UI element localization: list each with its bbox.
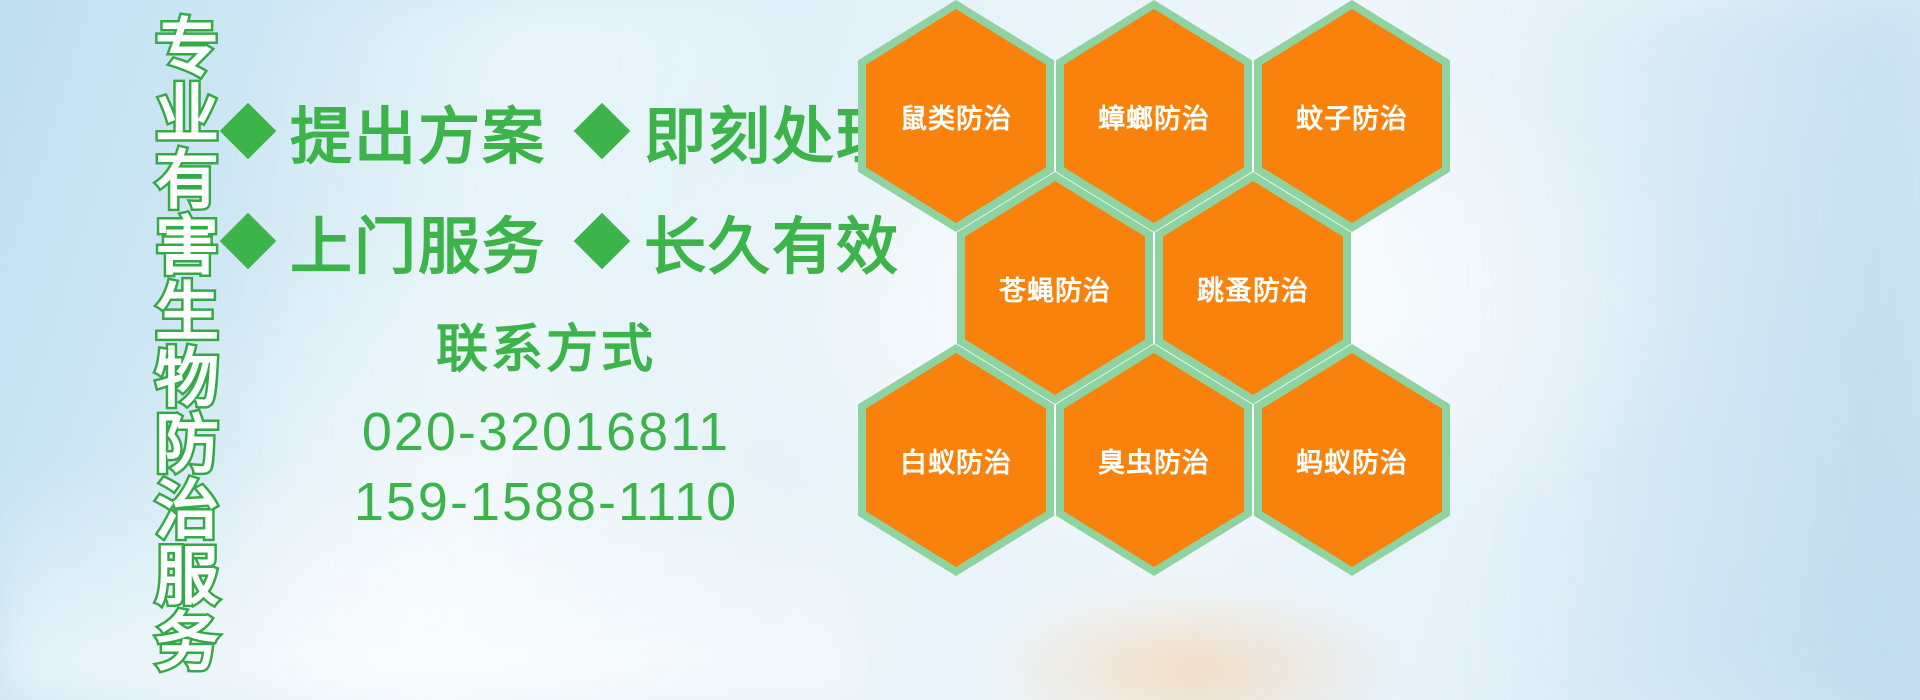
diamond-icon bbox=[220, 103, 277, 160]
diamond-icon bbox=[574, 103, 631, 160]
hex-label-bedbug: 臭虫防治 bbox=[1098, 441, 1210, 480]
feature-item-4: 长久有效 bbox=[582, 196, 900, 286]
contact-block: 联系方式 020-32016811 159-1588-1110 bbox=[286, 318, 806, 537]
feature-label-1: 提出方案 bbox=[290, 86, 546, 176]
hex-label-mosquito: 蚊子防治 bbox=[1296, 97, 1408, 136]
hex-inner: 蚊子防治 bbox=[1262, 9, 1442, 223]
contact-phone-landline[interactable]: 020-32016811 bbox=[286, 397, 806, 467]
hex-label-rodent: 鼠类防治 bbox=[900, 97, 1012, 136]
hex-inner: 臭虫防治 bbox=[1064, 353, 1244, 567]
feature-item-3: 上门服务 bbox=[228, 196, 546, 286]
hex-inner: 蚂蚁防治 bbox=[1262, 353, 1442, 567]
honeycomb-service-grid: 鼠类防治 蟑螂防治 蚊子防治 苍蝇防治 跳蚤防治 白蚁防治 臭虫防治 蚂蚁防治 bbox=[858, 0, 1478, 700]
hex-inner: 蟑螂防治 bbox=[1064, 9, 1244, 223]
hex-label-cockroach: 蟑螂防治 bbox=[1098, 97, 1210, 136]
diamond-icon bbox=[574, 213, 631, 270]
hex-label-termite: 白蚁防治 bbox=[900, 441, 1012, 480]
hex-inner: 白蚁防治 bbox=[866, 353, 1046, 567]
feature-row-top: 提出方案 即刻处理 bbox=[228, 86, 900, 176]
feature-item-1: 提出方案 bbox=[228, 86, 546, 176]
hex-inner: 跳蚤防治 bbox=[1163, 181, 1343, 395]
contact-phone-mobile[interactable]: 159-1588-1110 bbox=[286, 467, 806, 537]
hex-inner: 苍蝇防治 bbox=[965, 181, 1145, 395]
feature-row-bottom: 上门服务 长久有效 bbox=[228, 196, 900, 286]
hex-label-ant: 蚂蚁防治 bbox=[1296, 441, 1408, 480]
contact-heading: 联系方式 bbox=[286, 318, 806, 383]
diamond-icon bbox=[220, 213, 277, 270]
hex-label-fly: 苍蝇防治 bbox=[999, 269, 1111, 308]
hex-inner: 鼠类防治 bbox=[866, 9, 1046, 223]
background-light-beam-right bbox=[1500, 0, 1920, 700]
feature-label-3: 上门服务 bbox=[290, 196, 546, 286]
hex-label-flea: 跳蚤防治 bbox=[1197, 269, 1309, 308]
vertical-headline: 专业有害生物防治服务 bbox=[108, 14, 214, 574]
feature-item-2: 即刻处理 bbox=[582, 86, 900, 176]
